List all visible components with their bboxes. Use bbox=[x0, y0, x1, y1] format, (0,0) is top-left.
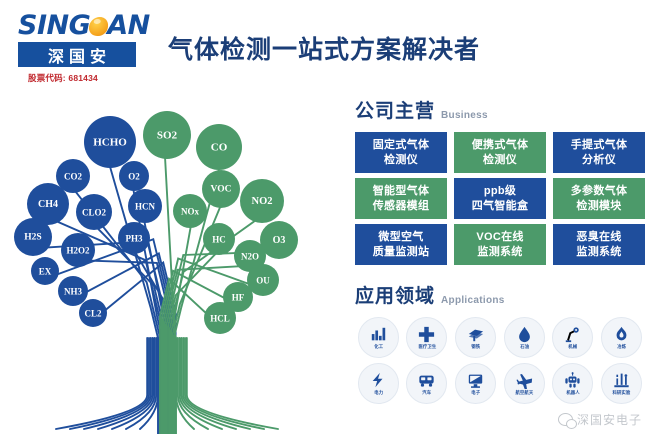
application-item[interactable]: 科研实验 bbox=[598, 363, 645, 404]
gas-node[interactable]: HCN bbox=[128, 189, 162, 223]
application-item[interactable]: 汽车 bbox=[404, 363, 451, 404]
application-label: 冶炼 bbox=[617, 344, 626, 350]
application-circle: 电子 bbox=[455, 363, 496, 404]
gas-node-label: H2O2 bbox=[66, 246, 90, 256]
business-item-line: 便携式气体 bbox=[472, 138, 529, 153]
gas-node[interactable]: O2 bbox=[119, 161, 149, 191]
business-grid: 固定式气体检测仪便携式气体检测仪手提式气体分析仪智能型气体传感器模组ppb级四气… bbox=[355, 132, 645, 265]
business-section-heading: 公司主营 Business bbox=[355, 96, 645, 123]
application-item[interactable]: 航空航天 bbox=[501, 363, 548, 404]
application-item[interactable]: 冶炼 bbox=[598, 317, 645, 358]
factory-icon bbox=[370, 326, 387, 343]
business-item[interactable]: ppb级四气智能盒 bbox=[454, 178, 546, 219]
application-label: 化工 bbox=[374, 344, 383, 350]
gas-node[interactable]: CO bbox=[196, 124, 242, 170]
gas-tree-diagram: HCHOCO2O2CH4CLO2HCNH2SPH3H2O2EXNH3CL2SO2… bbox=[0, 95, 340, 434]
wechat-icon bbox=[558, 413, 573, 426]
gas-node-label: SO2 bbox=[157, 130, 178, 142]
lightning-icon bbox=[370, 372, 387, 389]
gas-node[interactable]: CLO2 bbox=[76, 194, 112, 230]
gas-node-label: CH4 bbox=[38, 199, 58, 210]
application-item[interactable]: 机器人 bbox=[550, 363, 597, 404]
tree-root bbox=[70, 338, 149, 429]
watermark-label: 深国安电子 bbox=[577, 411, 642, 428]
gas-node[interactable]: NOx bbox=[173, 194, 207, 228]
gas-node-label: HCL bbox=[210, 314, 230, 324]
gas-node[interactable]: NH3 bbox=[58, 276, 88, 306]
steel-beam-icon bbox=[467, 326, 484, 343]
gas-node-label: HCHO bbox=[93, 137, 127, 149]
application-label: 科研实验 bbox=[613, 390, 631, 396]
application-circle: 汽车 bbox=[406, 363, 447, 404]
gas-node[interactable]: H2O2 bbox=[61, 233, 95, 267]
application-label: 机器人 bbox=[566, 390, 579, 396]
business-heading-en: Business bbox=[441, 110, 488, 123]
gas-node-label: NOx bbox=[181, 207, 200, 217]
gas-node[interactable]: PH3 bbox=[118, 222, 150, 254]
wechat-watermark: 深国安电子 bbox=[558, 411, 642, 428]
business-item-line: 监测系统 bbox=[477, 245, 522, 260]
application-circle: 钢铁 bbox=[455, 317, 496, 358]
logo-chinese-name: 深国安 bbox=[18, 42, 136, 67]
business-item[interactable]: 多参数气体检测模块 bbox=[553, 178, 645, 219]
application-circle: 电力 bbox=[358, 363, 399, 404]
monitor-icon bbox=[467, 372, 484, 389]
business-item[interactable]: VOC在线监测系统 bbox=[454, 224, 546, 265]
gas-node-label: HCN bbox=[135, 202, 156, 212]
application-label: 航空航天 bbox=[515, 390, 533, 396]
robot-arm-icon bbox=[564, 326, 581, 343]
business-item-line: 检测仪 bbox=[483, 153, 517, 168]
gas-node[interactable]: VOC bbox=[202, 170, 240, 208]
gas-node-label: EX bbox=[39, 267, 52, 277]
gas-node[interactable]: HCL bbox=[204, 302, 236, 334]
business-item[interactable]: 恶臭在线监测系统 bbox=[553, 224, 645, 265]
gas-node[interactable]: H2S bbox=[14, 218, 52, 256]
company-logo: SINGAN 深国安 股票代码: 681434 bbox=[18, 12, 168, 84]
application-item[interactable]: 化工 bbox=[355, 317, 402, 358]
business-item-line: 微型空气 bbox=[378, 230, 423, 245]
application-circle: 航空航天 bbox=[504, 363, 545, 404]
business-item-line: 手提式气体 bbox=[571, 138, 628, 153]
gas-node-label: PH3 bbox=[126, 234, 143, 244]
application-circle: 医疗卫生 bbox=[406, 317, 447, 358]
gas-node[interactable]: SO2 bbox=[143, 111, 191, 159]
application-circle: 科研实验 bbox=[601, 363, 642, 404]
gas-node-label: H2S bbox=[24, 233, 41, 243]
logo-wordmark-suffix: AN bbox=[107, 10, 150, 41]
lab-flask-icon bbox=[613, 372, 630, 389]
medical-cross-icon bbox=[418, 326, 435, 343]
gas-node-label: NH3 bbox=[64, 287, 83, 297]
application-label: 汽车 bbox=[423, 390, 432, 396]
business-item-line: 检测模块 bbox=[576, 199, 621, 214]
gas-node-label: CO2 bbox=[64, 172, 83, 182]
application-circle: 化工 bbox=[358, 317, 399, 358]
application-circle: 冶炼 bbox=[601, 317, 642, 358]
page-title: 气体检测一站式方案解决者 bbox=[168, 30, 480, 66]
gas-node[interactable]: NO2 bbox=[240, 179, 284, 223]
gas-node[interactable]: EX bbox=[31, 257, 59, 285]
business-item[interactable]: 智能型气体传感器模组 bbox=[355, 178, 447, 219]
right-column: 公司主营 Business 固定式气体检测仪便携式气体检测仪手提式气体分析仪智能… bbox=[355, 96, 645, 404]
business-item-line: ppb级 bbox=[484, 184, 516, 199]
gas-node-label: O2 bbox=[128, 172, 140, 182]
application-label: 石油 bbox=[520, 344, 529, 350]
application-item[interactable]: 石油 bbox=[501, 317, 548, 358]
gas-node-label: HF bbox=[232, 293, 245, 303]
gas-node[interactable]: HC bbox=[203, 223, 235, 255]
oil-drop-icon bbox=[516, 326, 533, 343]
flame-icon bbox=[613, 326, 630, 343]
application-circle: 机器人 bbox=[552, 363, 593, 404]
business-item-line: 恶臭在线 bbox=[576, 230, 621, 245]
gas-node-label: NO2 bbox=[252, 196, 273, 207]
application-item[interactable]: 机械 bbox=[550, 317, 597, 358]
business-item[interactable]: 微型空气质量监测站 bbox=[355, 224, 447, 265]
poster-canvas: SINGAN 深国安 股票代码: 681434 气体检测一站式方案解决者 HCH… bbox=[0, 0, 650, 434]
gas-node-label: CL2 bbox=[84, 309, 102, 319]
applications-heading-en: Applications bbox=[441, 295, 505, 308]
gas-node[interactable]: CL2 bbox=[79, 299, 107, 327]
business-item-line: 四气智能盒 bbox=[472, 199, 529, 214]
airplane-icon bbox=[516, 372, 533, 389]
applications-grid: 化工医疗卫生钢铁石油机械冶炼电力汽车电子航空航天机器人科研实验 bbox=[355, 317, 645, 404]
gas-node-label: CLO2 bbox=[82, 208, 107, 218]
application-label: 医疗卫生 bbox=[418, 344, 436, 350]
business-item-line: 监测系统 bbox=[576, 245, 621, 260]
gas-node-label: HC bbox=[212, 235, 226, 245]
business-heading-cn: 公司主营 bbox=[355, 96, 435, 123]
business-item-line: 质量监测站 bbox=[373, 245, 430, 260]
application-item[interactable]: 电子 bbox=[452, 363, 499, 404]
application-item[interactable]: 医疗卫生 bbox=[404, 317, 451, 358]
business-item-line: 多参数气体 bbox=[571, 184, 628, 199]
stock-code: 股票代码: 681434 bbox=[18, 72, 168, 84]
application-item[interactable]: 钢铁 bbox=[452, 317, 499, 358]
robot-icon bbox=[564, 372, 581, 389]
applications-section-heading: 应用领域 Applications bbox=[355, 281, 645, 308]
gas-node[interactable]: HCHO bbox=[84, 116, 136, 168]
logo-wordmark-prefix: SING bbox=[18, 10, 90, 41]
gas-node-label: CO bbox=[211, 142, 228, 154]
tree-root bbox=[181, 338, 236, 429]
application-label: 电力 bbox=[374, 390, 383, 396]
application-circle: 石油 bbox=[504, 317, 545, 358]
gas-node-label: O3 bbox=[273, 235, 286, 246]
bus-icon bbox=[418, 372, 435, 389]
gas-node-label: OU bbox=[256, 276, 270, 286]
application-item[interactable]: 电力 bbox=[355, 363, 402, 404]
gas-node-label: N2O bbox=[241, 252, 259, 262]
gas-node-label: VOC bbox=[211, 185, 232, 195]
tree-root bbox=[98, 338, 153, 429]
business-item[interactable]: 手提式气体分析仪 bbox=[553, 132, 645, 173]
business-item-line: 分析仪 bbox=[582, 153, 616, 168]
application-circle: 机械 bbox=[552, 317, 593, 358]
applications-heading-cn: 应用领域 bbox=[355, 281, 435, 308]
application-label: 钢铁 bbox=[471, 344, 480, 350]
business-item-line: 智能型气体 bbox=[373, 184, 430, 199]
application-label: 电子 bbox=[471, 390, 480, 396]
business-item-line: VOC在线 bbox=[476, 230, 523, 245]
business-item[interactable]: 便携式气体检测仪 bbox=[454, 132, 546, 173]
tree-graphic: HCHOCO2O2CH4CLO2HCNH2SPH3H2O2EXNH3CL2SO2… bbox=[0, 95, 340, 434]
business-item-line: 固定式气体 bbox=[373, 138, 430, 153]
tree-root bbox=[185, 338, 264, 429]
business-item-line: 传感器模组 bbox=[373, 199, 430, 214]
application-label: 机械 bbox=[569, 344, 578, 350]
business-item[interactable]: 固定式气体检测仪 bbox=[355, 132, 447, 173]
logo-wordmark: SINGAN bbox=[18, 12, 168, 39]
business-item-line: 检测仪 bbox=[384, 153, 418, 168]
